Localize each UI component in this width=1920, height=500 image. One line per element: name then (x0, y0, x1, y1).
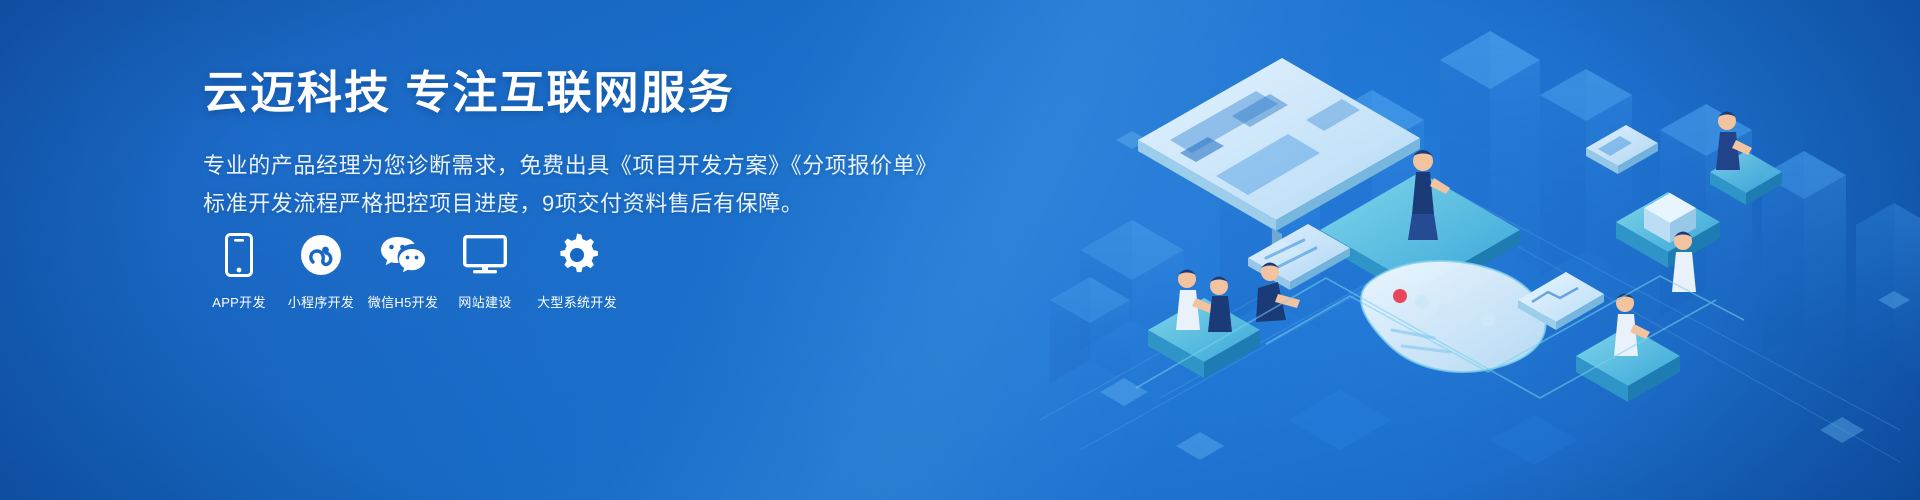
mini-program-icon (300, 232, 342, 278)
banner-subtitle-line-1: 专业的产品经理为您诊断需求，免费出具《项目开发方案》《分项报价单》 (203, 147, 923, 185)
service-item-wechat-h5[interactable]: 微信H5开发 (367, 232, 439, 311)
service-label: APP开发 (212, 292, 266, 311)
hero-banner: 云迈科技 专注互联网服务 专业的产品经理为您诊断需求，免费出具《项目开发方案》《… (0, 0, 1920, 500)
service-item-website[interactable]: 网站建设 (449, 232, 521, 311)
service-label: 网站建设 (458, 292, 511, 311)
isometric-data-dashboard-illustration (1020, 0, 1920, 500)
service-item-app[interactable]: APP开发 (203, 232, 275, 311)
monitor-icon (463, 232, 507, 278)
wechat-icon (380, 232, 426, 278)
service-label: 小程序开发 (288, 292, 355, 311)
service-label: 微信H5开发 (368, 292, 438, 311)
service-label: 大型系统开发 (537, 292, 617, 311)
service-item-large-system[interactable]: 大型系统开发 (531, 232, 623, 311)
banner-copy: 云迈科技 专注互联网服务 专业的产品经理为您诊断需求，免费出具《项目开发方案》《… (203, 66, 923, 223)
mobile-phone-icon (225, 232, 253, 278)
banner-subtitle-line-2: 标准开发流程严格把控项目进度，9项交付资料售后有保障。 (203, 185, 923, 223)
service-item-miniprogram[interactable]: 小程序开发 (285, 232, 357, 311)
page-title: 云迈科技 专注互联网服务 (203, 66, 923, 121)
service-list: APP开发 小程序开发 (203, 232, 623, 311)
gear-icon (555, 232, 599, 278)
